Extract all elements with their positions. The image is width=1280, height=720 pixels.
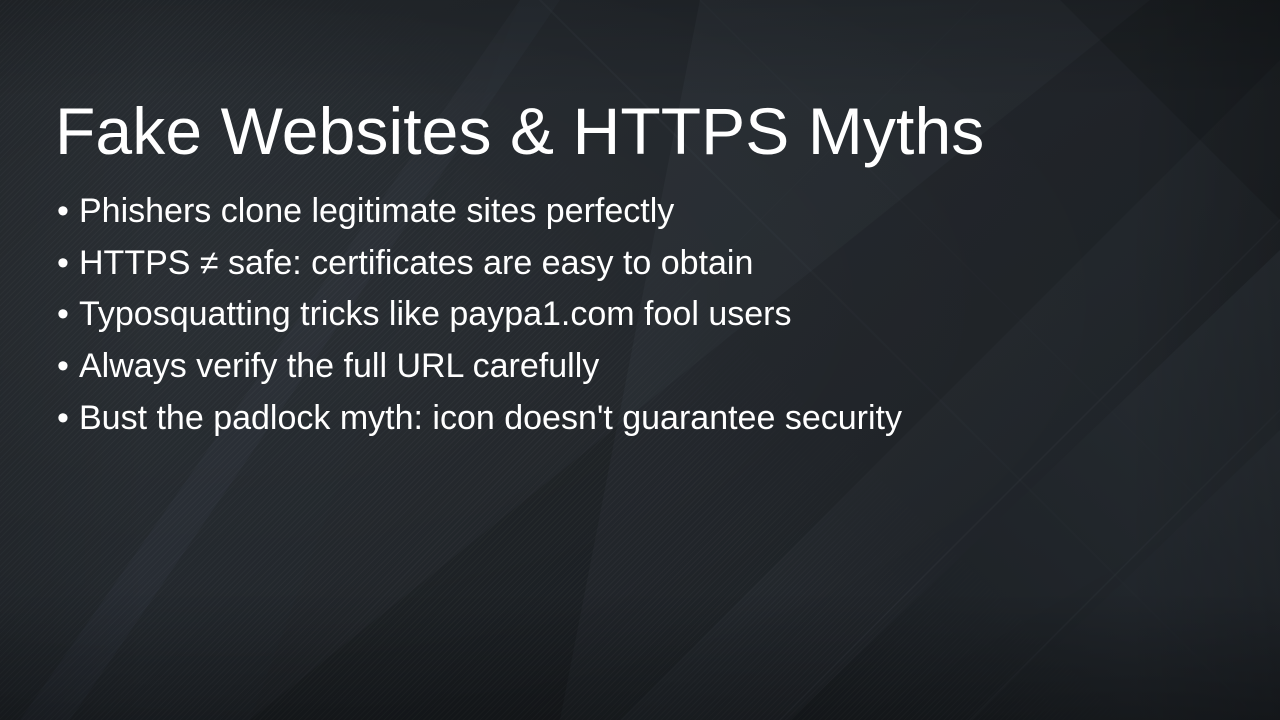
bullet-item: • Always verify the full URL carefully — [55, 341, 1205, 393]
bullet-point-icon: • — [57, 186, 75, 238]
bullet-item: • Phishers clone legitimate sites perfec… — [55, 186, 1205, 238]
slide-content: Fake Websites & HTTPS Myths • Phishers c… — [0, 0, 1280, 720]
bullet-item-label: HTTPS ≠ safe: certificates are easy to o… — [79, 244, 753, 282]
slide-title: Fake Websites & HTTPS Myths — [55, 96, 1175, 167]
bullet-item-label: Bust the padlock myth: icon doesn't guar… — [79, 399, 902, 437]
bullet-point-icon: • — [57, 238, 75, 290]
bullet-point-icon: • — [57, 341, 75, 393]
bullet-point-icon: • — [57, 393, 75, 445]
bullet-point-icon: • — [57, 289, 75, 341]
bullet-item: • Typosquatting tricks like paypa1.com f… — [55, 289, 1205, 341]
presentation-slide: Fake Websites & HTTPS Myths • Phishers c… — [0, 0, 1280, 720]
bullet-item-label: Typosquatting tricks like paypa1.com foo… — [79, 295, 791, 333]
bullet-item: • Bust the padlock myth: icon doesn't gu… — [55, 393, 1205, 445]
bullet-item-label: Phishers clone legitimate sites perfectl… — [79, 192, 674, 230]
bullet-list: • Phishers clone legitimate sites perfec… — [55, 186, 1205, 444]
bullet-item-label: Always verify the full URL carefully — [79, 347, 599, 385]
bullet-item: • HTTPS ≠ safe: certificates are easy to… — [55, 238, 1205, 290]
